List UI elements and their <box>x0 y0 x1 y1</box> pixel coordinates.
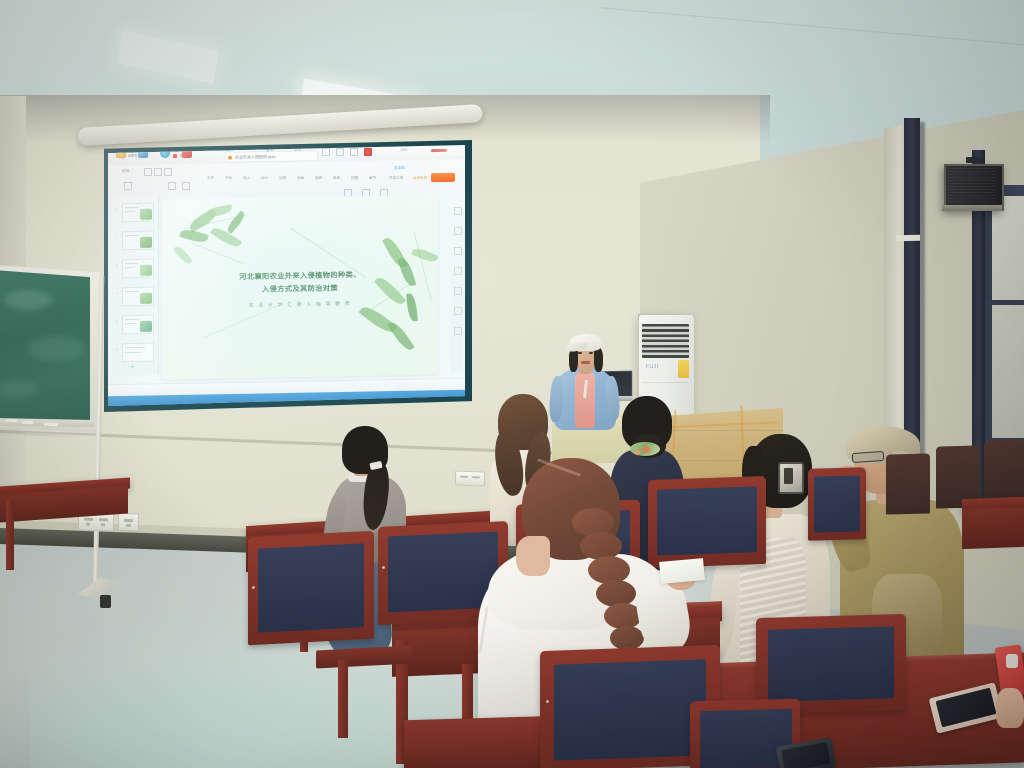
leaf-decor <box>173 244 193 266</box>
empty-chair[interactable] <box>886 453 930 514</box>
socket-slot <box>124 519 133 522</box>
chalk-stick[interactable] <box>44 423 58 426</box>
thumbnail-number: 3 <box>116 263 118 267</box>
slide-thumbnail[interactable] <box>122 259 154 279</box>
thumb-line <box>125 207 139 208</box>
picture-icon[interactable] <box>454 247 462 255</box>
thumb-image <box>140 209 152 220</box>
socket-slot <box>99 518 108 521</box>
home-icon <box>173 154 177 158</box>
chart-icon[interactable] <box>454 267 462 275</box>
slide-thumbnail[interactable] <box>122 203 154 223</box>
thumb-line <box>125 235 139 236</box>
socket-slot <box>126 524 131 527</box>
ribbon-group-member[interactable]: 会员专享 <box>413 176 427 181</box>
socket-slot <box>84 518 93 521</box>
ribbon-group-slideshow[interactable]: 放映 <box>315 176 322 181</box>
thumb-line <box>125 319 139 320</box>
thumb-line <box>125 323 136 324</box>
thumb-line <box>125 211 135 212</box>
reading-view-icon[interactable] <box>350 148 358 156</box>
chair-backrest-pad <box>258 543 364 633</box>
thumb-image <box>140 293 152 304</box>
classroom-photo: WPS Office 首页 农业外来入侵植物.pptx 文件 开始 插入 设计 … <box>0 0 1024 768</box>
chalk-smudge <box>4 290 52 310</box>
thumbnail-number: 5 <box>116 319 118 323</box>
chalkboard <box>0 270 90 425</box>
thumbnail-number: 4 <box>116 291 118 295</box>
socket-slot <box>101 523 105 526</box>
thumb-line <box>125 347 145 349</box>
wall-outlet-single[interactable] <box>118 513 139 532</box>
save-button[interactable] <box>431 173 455 182</box>
thumbnail-number: 2 <box>116 235 118 239</box>
ribbon-group-section[interactable]: 章节 <box>369 176 376 181</box>
normal-view-icon[interactable] <box>322 148 330 156</box>
ime-indicator[interactable]: 中 <box>420 149 425 155</box>
leaf-decor <box>406 293 418 322</box>
ac-vent-louvers <box>642 324 689 358</box>
slide-thumbnail[interactable] <box>122 343 154 363</box>
board-caster-wheel <box>100 595 111 608</box>
text-icon[interactable] <box>454 287 462 295</box>
leaf-decor <box>210 224 242 250</box>
ribbon-group-animation[interactable]: 动画 <box>297 176 304 181</box>
desk-leg <box>6 500 14 570</box>
empty-chair[interactable] <box>984 439 1024 500</box>
slide-title: 河北襄阳农业外来入侵植物的种类、 入侵方式及其防治对策 <box>192 267 408 297</box>
leaf-decor <box>411 246 438 264</box>
hand-holding-phone <box>996 688 1024 728</box>
chair-backrest-pad <box>814 475 860 532</box>
ribbon-group-review[interactable]: 审阅 <box>333 176 340 181</box>
pillar-band <box>896 235 920 241</box>
thumb-line <box>125 352 141 353</box>
pen-icon[interactable] <box>454 207 462 215</box>
bullet-list-icon[interactable] <box>182 182 190 190</box>
ribbon-group-insert[interactable]: 插入 <box>243 176 250 181</box>
chair-rivet <box>546 700 549 703</box>
leaf-decor <box>206 204 233 217</box>
zoom-level: 78% <box>400 148 407 152</box>
chalk-stick[interactable] <box>22 421 33 424</box>
notebook[interactable] <box>659 558 705 584</box>
leaf-stem <box>414 231 432 301</box>
ribbon-group-file[interactable]: 文件 <box>207 176 214 181</box>
presenter-eye <box>589 352 593 354</box>
ribbon-group-transition[interactable]: 切换 <box>279 176 286 181</box>
template-icon[interactable] <box>454 307 462 315</box>
thumb-image <box>140 237 152 248</box>
presenter-mouth <box>581 361 590 364</box>
hair-clip-slot <box>784 468 793 484</box>
wps-tab-label: 农业外来入侵植物.pptx <box>235 154 276 160</box>
socket-slot <box>460 476 468 479</box>
slide-sorter-icon[interactable] <box>336 148 344 156</box>
slide-thumbnail[interactable] <box>122 315 154 335</box>
copy-icon[interactable] <box>154 168 162 176</box>
clock-date: 2023/5/26 <box>445 152 460 157</box>
chair-backrest-pad <box>554 659 706 760</box>
chair-backrest-pad <box>768 626 894 702</box>
slide-title-line2: 入侵方式及其防治对策 <box>192 280 408 297</box>
phone-red-camera <box>1006 654 1018 668</box>
thumb-line <box>125 263 139 264</box>
presenter-hair <box>594 348 603 372</box>
presenter-eye <box>578 352 582 354</box>
font-icon[interactable] <box>124 182 132 190</box>
chair-leg <box>338 660 348 738</box>
ceiling-beam <box>601 7 1024 45</box>
taskbar-clock: 10:11 2023/5/26 <box>445 147 460 157</box>
chalk-smudge <box>28 336 84 362</box>
thumbnail-number: 1 <box>116 207 118 211</box>
thumbnail-number: 6 <box>116 347 118 351</box>
slide-thumbnail[interactable] <box>122 287 154 307</box>
thumb-line <box>125 291 139 292</box>
current-slide[interactable]: 河北襄阳农业外来入侵植物的种类、 入侵方式及其防治对策 农 业 大 学 汇 报 … <box>162 194 438 379</box>
wps-ribbon <box>108 160 465 199</box>
star-icon[interactable] <box>454 227 462 235</box>
bold-icon[interactable] <box>168 182 176 190</box>
speaker-shelf <box>942 205 1002 211</box>
ribbon-group-start[interactable]: 开始 <box>225 176 232 181</box>
projection-screen-surface: WPS Office 首页 农业外来入侵植物.pptx 文件 开始 插入 设计 … <box>108 145 465 406</box>
thumb-line <box>125 267 133 268</box>
thumb-image <box>140 321 152 332</box>
leaf-decor <box>387 319 414 353</box>
braid-skin-neck <box>516 536 550 576</box>
chalk-smudge <box>0 380 38 398</box>
ceiling-light-panel <box>118 30 219 83</box>
slideshow-icon[interactable] <box>364 148 372 156</box>
slide-thumbnail[interactable] <box>122 231 154 251</box>
ac-brand-label: FUJI <box>646 364 659 370</box>
socket-slot <box>86 523 90 526</box>
format-painter-icon[interactable] <box>164 168 172 176</box>
ribbon-paste-label[interactable]: 粘贴 <box>122 169 129 174</box>
more-icon[interactable] <box>454 327 462 335</box>
chair-rivet <box>382 566 385 569</box>
zoom-out-icon[interactable] <box>386 148 392 154</box>
chair-rivet <box>252 586 255 589</box>
add-slide-button[interactable]: + <box>130 363 135 371</box>
ac-energy-label <box>678 360 689 378</box>
ac-seam <box>642 382 689 383</box>
pptx-file-icon <box>228 155 232 159</box>
ribbon-group-devtools[interactable]: 开发工具 <box>389 176 403 181</box>
cloud-account-label[interactable]: 云文档 <box>394 166 405 171</box>
speaker-mesh <box>948 168 996 203</box>
window-mullion <box>985 300 1024 305</box>
desk-front-panel <box>962 507 1024 549</box>
speaker-bracket <box>966 157 982 163</box>
cut-icon[interactable] <box>144 168 152 176</box>
chalk-stick[interactable] <box>6 419 17 422</box>
thumb-image <box>140 265 152 276</box>
ribbon-group-design[interactable]: 设计 <box>261 176 268 181</box>
ribbon-group-view[interactable]: 视图 <box>351 176 358 181</box>
